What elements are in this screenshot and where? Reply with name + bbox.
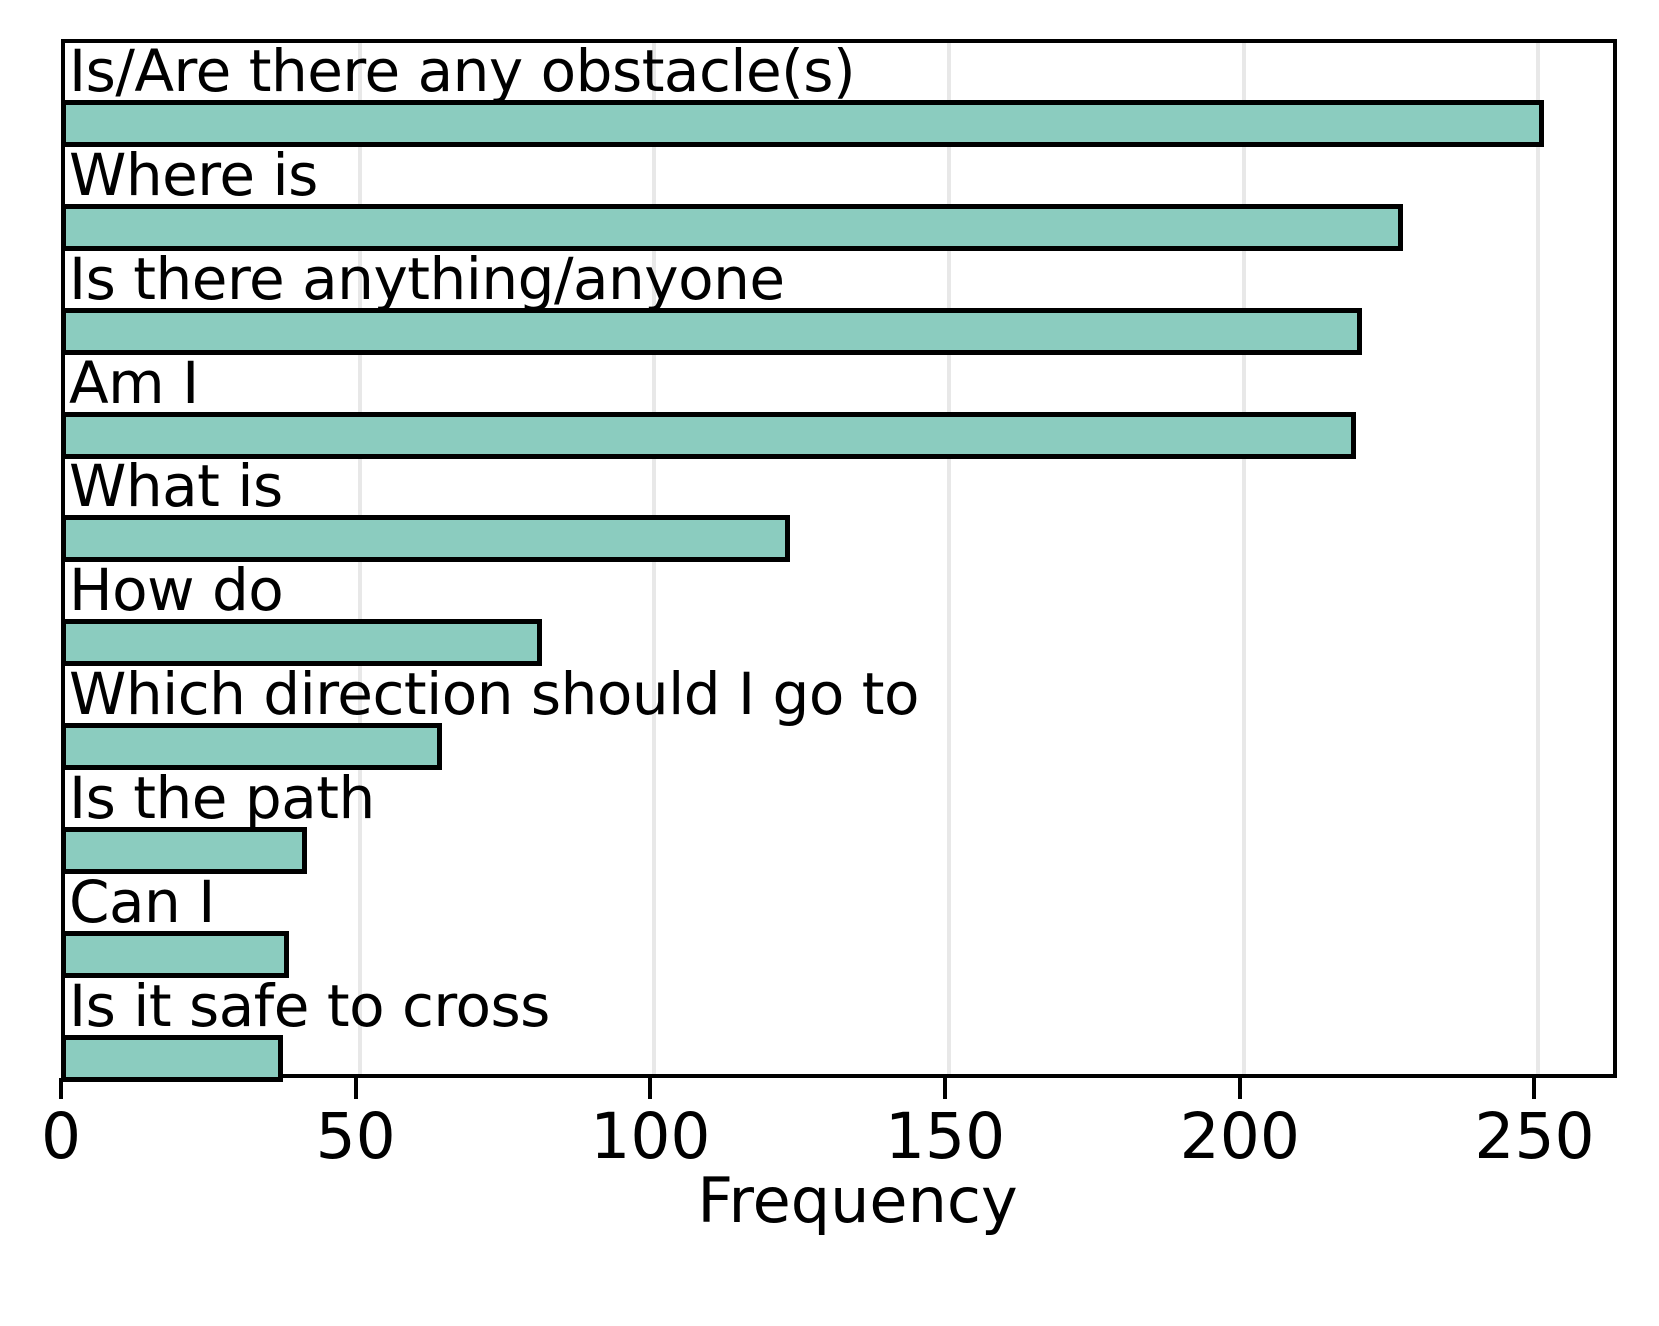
- x-tick-label: 0: [41, 1102, 81, 1172]
- bars-layer: Is/Are there any obstacle(s)Where isIs t…: [65, 43, 1613, 1074]
- bar-category-label: Am I: [69, 354, 199, 412]
- x-axis-label: Frequency: [0, 1166, 1659, 1236]
- bar-row: Is/Are there any obstacle(s): [65, 43, 1621, 147]
- bar-row: Can I: [65, 874, 1621, 978]
- bar-category-label: Is it safe to cross: [69, 977, 550, 1035]
- bar-category-label: How do: [69, 561, 283, 619]
- bar-row: Is there anything/anyone: [65, 251, 1621, 355]
- bar-row: What is: [65, 459, 1621, 563]
- x-tick-label: 100: [590, 1102, 710, 1172]
- x-tick-label: 50: [316, 1102, 396, 1172]
- x-tick-mark: [1238, 1078, 1242, 1099]
- x-axis-ticks: 050100150200250: [61, 1078, 1617, 1118]
- bar-category-label: Is the path: [69, 769, 375, 827]
- bar[interactable]: [61, 308, 1362, 355]
- bar-category-label: Can I: [69, 873, 215, 931]
- plot-area: Is/Are there any obstacle(s)Where isIs t…: [61, 39, 1617, 1078]
- bar[interactable]: [61, 204, 1403, 251]
- x-tick-label: 150: [885, 1102, 1005, 1172]
- bar[interactable]: [61, 1035, 283, 1082]
- bar-row: Which direction should I go to: [65, 666, 1621, 770]
- bar[interactable]: [61, 100, 1544, 147]
- x-tick-mark: [354, 1078, 358, 1099]
- bar-row: Where is: [65, 147, 1621, 251]
- bar-row: How do: [65, 563, 1621, 667]
- bar-row: Is the path: [65, 770, 1621, 874]
- x-tick-mark: [59, 1078, 63, 1099]
- x-tick-label: 200: [1180, 1102, 1300, 1172]
- bar-chart-figure: Is/Are there any obstacle(s)Where isIs t…: [0, 0, 1659, 1326]
- bar-category-label: Where is: [69, 146, 318, 204]
- bar-row: Is it safe to cross: [65, 978, 1621, 1082]
- x-tick-label: 250: [1474, 1102, 1594, 1172]
- x-tick-mark: [943, 1078, 947, 1099]
- bar-category-label: Is there anything/anyone: [69, 250, 785, 308]
- bar-category-label: Which direction should I go to: [69, 665, 919, 723]
- bar-row: Am I: [65, 355, 1621, 459]
- bar-category-label: Is/Are there any obstacle(s): [69, 42, 855, 100]
- x-tick-mark: [648, 1078, 652, 1099]
- bar-category-label: What is: [69, 457, 283, 515]
- x-tick-mark: [1532, 1078, 1536, 1099]
